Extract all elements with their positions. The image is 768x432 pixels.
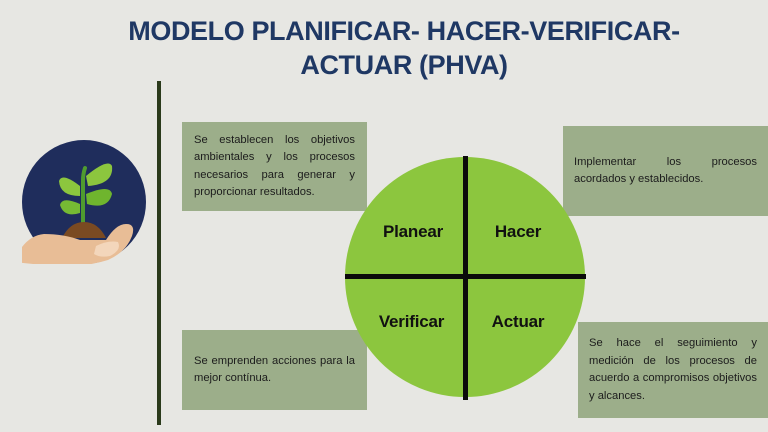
- note-box-hacer-text: Implementar los procesos acordados y est…: [574, 154, 757, 189]
- note-box-verificar-text: Se emprenden acciones para la mejor cont…: [194, 353, 355, 388]
- page-title: MODELO PLANIFICAR- HACER-VERIFICAR-ACTUA…: [104, 14, 704, 82]
- vertical-divider: [157, 81, 161, 425]
- phva-quadrant-verificar: Verificar: [359, 312, 464, 332]
- note-box-actuar: Se hace el seguimiento y medición de los…: [578, 322, 768, 418]
- phva-cycle-diagram: Planear Hacer Verificar Actuar: [345, 157, 585, 397]
- note-box-planear-text: Se establecen los objetivos ambientales …: [194, 132, 355, 202]
- note-box-planear: Se establecen los objetivos ambientales …: [182, 122, 367, 211]
- phva-quadrant-hacer: Hacer: [468, 222, 568, 242]
- phva-quadrant-actuar: Actuar: [468, 312, 568, 332]
- note-box-hacer: Implementar los procesos acordados y est…: [563, 126, 768, 216]
- phva-quadrant-planear: Planear: [363, 222, 463, 242]
- slide-canvas: MODELO PLANIFICAR- HACER-VERIFICAR-ACTUA…: [0, 0, 768, 432]
- phva-horizontal-divider: [345, 274, 586, 279]
- hand-holding-plant-logo: [22, 140, 146, 264]
- note-box-actuar-text: Se hace el seguimiento y medición de los…: [589, 335, 757, 405]
- note-box-verificar: Se emprenden acciones para la mejor cont…: [182, 330, 367, 410]
